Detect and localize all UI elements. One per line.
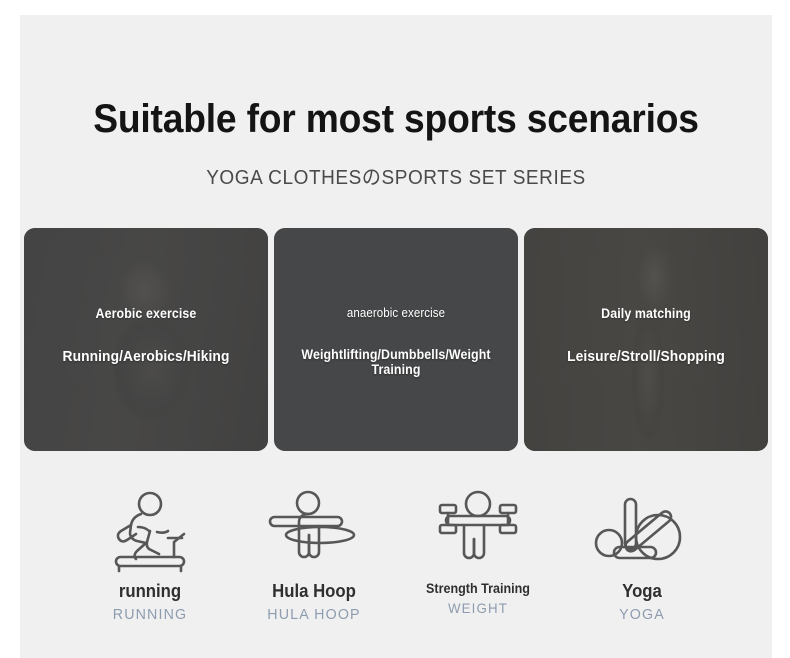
activity-item-running[interactable]: running RUNNING (68, 485, 232, 624)
card-kicker: Daily matching (534, 306, 758, 321)
card-kicker: Aerobic exercise (34, 306, 258, 321)
activity-label: Yoga (566, 581, 719, 603)
activity-item-yoga[interactable]: Yoga YOGA (560, 485, 724, 624)
activity-sublabel: YOGA (564, 606, 720, 624)
page-subtitle: YOGA CLOTHESのSPORTS SET SERIES (39, 161, 753, 190)
activity-label: running (74, 581, 227, 603)
activity-item-hula-hoop[interactable]: Hula Hoop HULA HOOP (232, 485, 396, 624)
page-title: Suitable for most sports scenarios (46, 99, 745, 139)
activity-label: Strength Training (402, 581, 555, 597)
promo-banner: Suitable for most sports scenarios YOGA … (20, 15, 772, 658)
card-text-group: anaerobic exercise Weightlifting/Dumbbel… (274, 306, 518, 377)
scenario-card-row: Aerobic exercise Running/Aerobics/Hiking… (24, 228, 768, 451)
yoga-icon (560, 485, 724, 581)
header-block: Suitable for most sports scenarios YOGA … (20, 15, 772, 190)
activity-sublabel: HULA HOOP (236, 606, 392, 624)
running-treadmill-icon (68, 485, 232, 581)
activity-label: Hula Hoop (238, 581, 391, 603)
scenario-card-daily[interactable]: Daily matching Leisure/Stroll/Shopping (524, 228, 768, 451)
strength-training-icon (396, 485, 560, 581)
card-description: Weightlifting/Dumbbells/Weight Training (284, 347, 508, 377)
activity-sublabel: WEIGHT (400, 600, 556, 617)
activity-sublabel: RUNNING (72, 606, 228, 624)
scenario-card-anaerobic[interactable]: anaerobic exercise Weightlifting/Dumbbel… (274, 228, 518, 451)
card-text-group: Daily matching Leisure/Stroll/Shopping (524, 306, 768, 365)
card-kicker: anaerobic exercise (284, 306, 508, 320)
activity-icon-row: running RUNNING Hula Hoop HULA HOOP (20, 485, 772, 624)
card-text-group: Aerobic exercise Running/Aerobics/Hiking (24, 306, 268, 365)
card-description: Running/Aerobics/Hiking (34, 348, 258, 365)
activity-item-strength-training[interactable]: Strength Training WEIGHT (396, 485, 560, 624)
scenario-card-aerobic[interactable]: Aerobic exercise Running/Aerobics/Hiking (24, 228, 268, 451)
card-description: Leisure/Stroll/Shopping (534, 348, 758, 365)
hula-hoop-icon (232, 485, 396, 581)
